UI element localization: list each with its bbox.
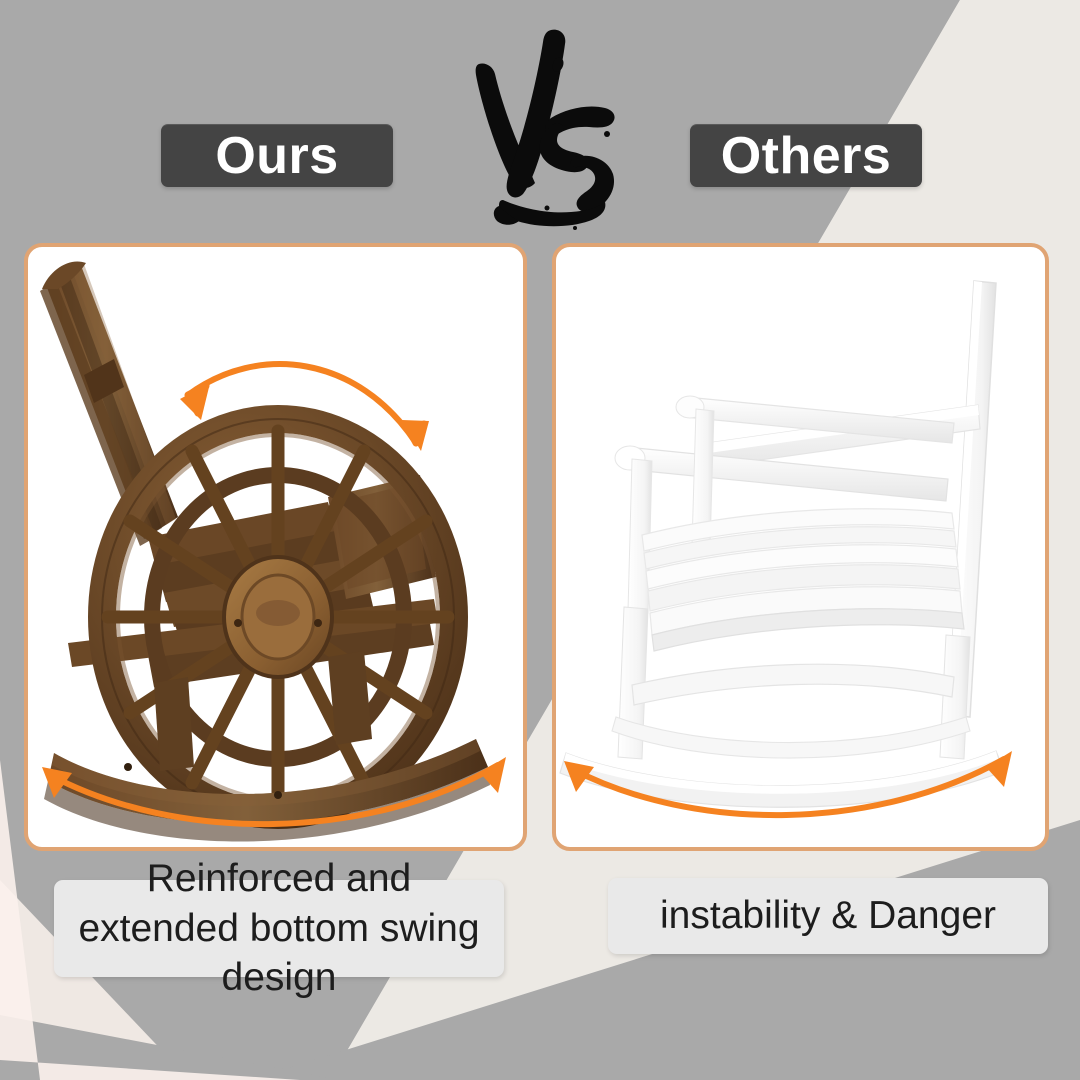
comparison-header: Ours <box>0 0 1080 232</box>
product-image-white-rocking-chair <box>556 247 1045 847</box>
badge-ours-label: Ours <box>215 126 338 186</box>
caption-others-text: instability & Danger <box>660 891 996 941</box>
comparison-card-ours <box>24 243 527 851</box>
chair-stretcher <box>632 664 954 705</box>
versus-brush-icon <box>455 22 645 232</box>
product-image-wagon-wheel-rocking-chair <box>28 247 523 847</box>
caption-ours-text: Reinforced and extended bottom swing des… <box>66 854 492 1004</box>
caption-ours: Reinforced and extended bottom swing des… <box>54 880 504 977</box>
badge-others: Others <box>690 124 922 187</box>
caption-others: instability & Danger <box>608 878 1048 954</box>
chair-rear-leg <box>940 635 970 759</box>
wagon-wheel <box>102 419 454 815</box>
comparison-card-others <box>552 243 1049 851</box>
badge-others-label: Others <box>721 126 892 186</box>
chair-backrest <box>40 261 178 546</box>
badge-ours: Ours <box>161 124 393 187</box>
